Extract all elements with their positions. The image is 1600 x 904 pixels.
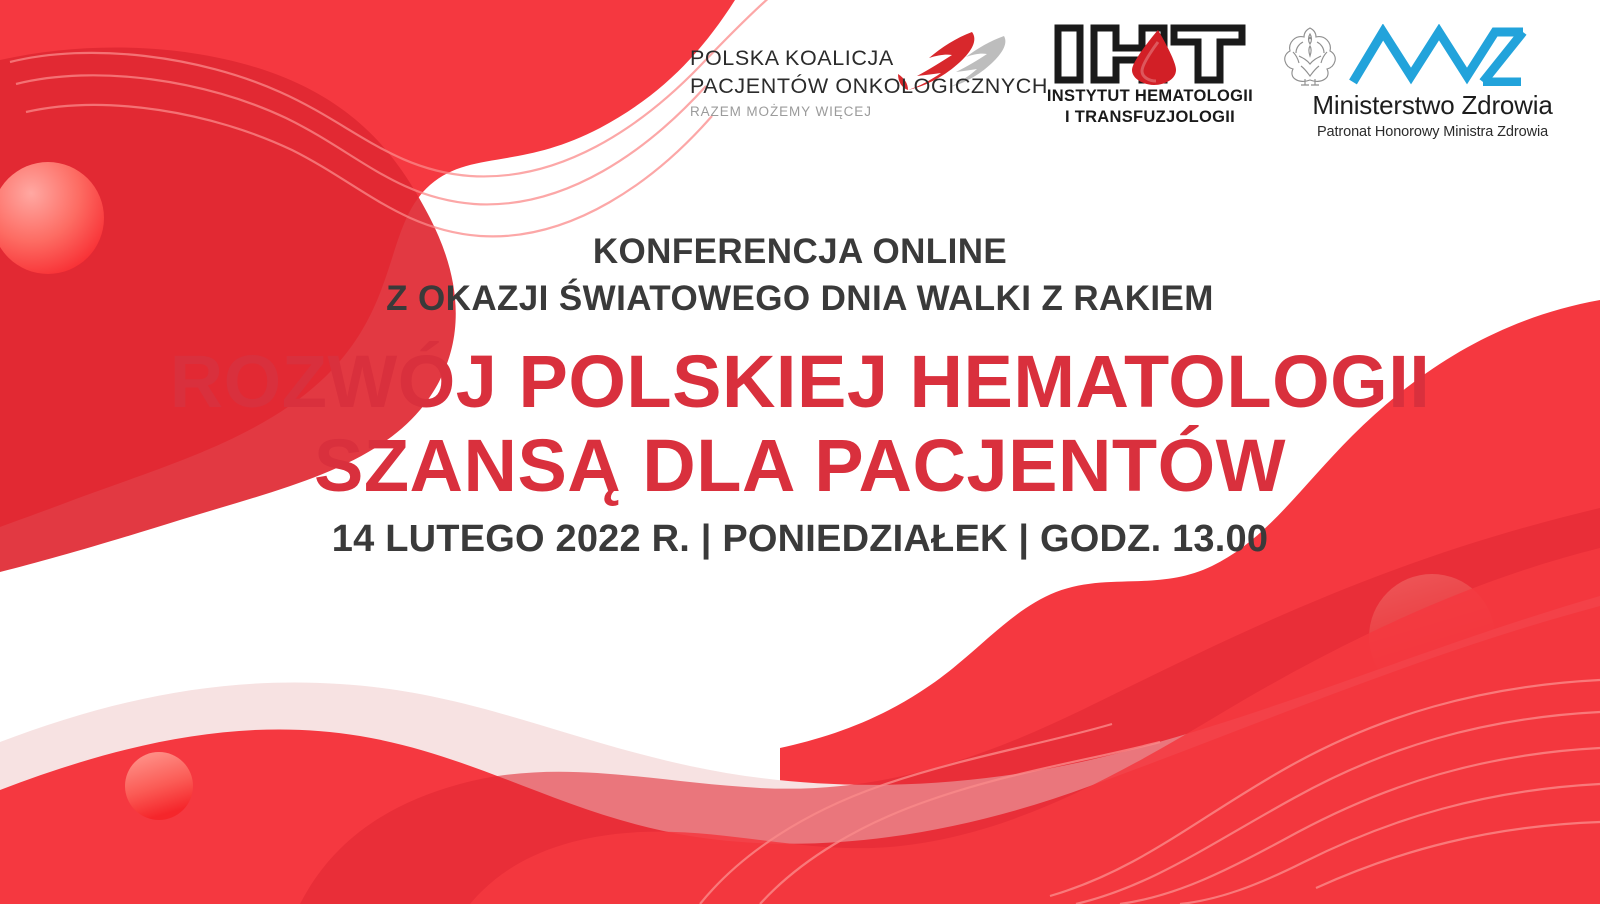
mz-subtitle: Patronat Honorowy Ministra Zdrowia: [1275, 124, 1590, 140]
kicker-block: KONFERENCJA ONLINE Z OKAZJI ŚWIATOWEGO D…: [0, 228, 1600, 322]
polish-eagle-icon: [1279, 22, 1341, 88]
logo-iht: INSTYTUT HEMATOLOGII I TRANSFUZJOLOGII: [1045, 22, 1255, 128]
mz-mark: [1275, 22, 1590, 88]
mz-title: Ministerstwo Zdrowia: [1275, 90, 1590, 121]
event-dateline: 14 LUTEGO 2022 R. | PONIEDZIAŁEK | GODZ.…: [0, 518, 1600, 561]
pkpo-tagline: RAZEM MOŻEMY WIĘCEJ: [690, 104, 1000, 119]
title-line2: SZANSĄ DLA PACJENTÓW: [0, 424, 1600, 508]
pkpo-line1: POLSKA KOALICJA: [690, 44, 1000, 72]
kicker-line1: KONFERENCJA ONLINE: [0, 228, 1600, 275]
iht-monogram-icon: [1050, 22, 1250, 86]
title-line1: ROZWÓJ POLSKIEJ HEMATOLOGII: [0, 340, 1600, 424]
pkpo-text-block: POLSKA KOALICJA PACJENTÓW ONKOLOGICZNYCH…: [690, 44, 1000, 119]
iht-subtitle-line1: INSTYTUT HEMATOLOGII: [1045, 86, 1255, 107]
conference-banner: POLSKA KOALICJA PACJENTÓW ONKOLOGICZNYCH…: [0, 0, 1600, 904]
logo-strip: POLSKA KOALICJA PACJENTÓW ONKOLOGICZNYCH…: [690, 22, 1590, 152]
dateline-text: 14 LUTEGO 2022 R. | PONIEDZIAŁEK | GODZ.…: [0, 518, 1600, 561]
decorative-ball-bottom-left: [125, 752, 193, 820]
pkpo-line2: PACJENTÓW ONKOLOGICZNYCH: [690, 72, 1000, 100]
iht-subtitle-line2: I TRANSFUZJOLOGII: [1045, 107, 1255, 128]
kicker-line2: Z OKAZJI ŚWIATOWEGO DNIA WALKI Z RAKIEM: [0, 275, 1600, 322]
logo-mz: Ministerstwo Zdrowia Patronat Honorowy M…: [1275, 22, 1590, 140]
main-title: ROZWÓJ POLSKIEJ HEMATOLOGII SZANSĄ DLA P…: [0, 340, 1600, 508]
iht-mark: [1045, 22, 1255, 86]
mz-zigzag-icon: [1349, 24, 1529, 86]
